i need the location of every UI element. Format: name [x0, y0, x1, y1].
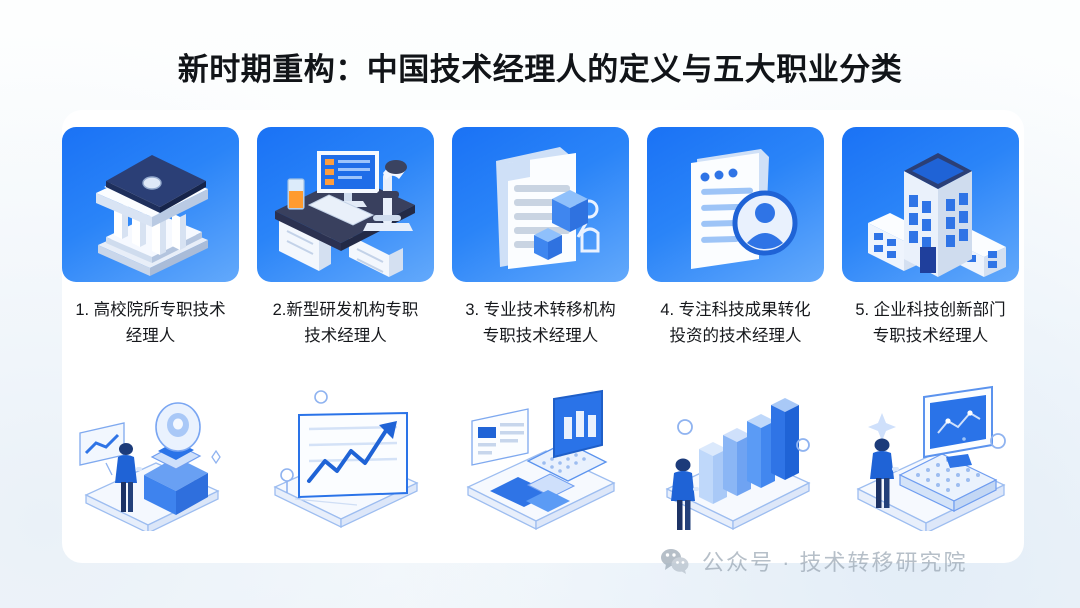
- laptop-dashboard-illustration: [452, 383, 629, 533]
- category-card-label: 1. 高校院所专职技术经理人: [71, 298, 231, 349]
- rising-line-chart-board-illustration: [257, 383, 434, 533]
- category-card-4[interactable]: 4. 专注科技成果转化投资的技术经理人: [647, 127, 824, 547]
- page-title: 新时期重构：中国技术经理人的定义与五大职业分类: [0, 44, 1080, 89]
- category-card-label: 4. 专注科技成果转化投资的技术经理人: [656, 298, 816, 349]
- category-card-3[interactable]: 3. 专业技术转移机构专职技术经理人: [452, 127, 629, 547]
- university-building-icon: [62, 127, 239, 282]
- lab-desk-microscope-icon: [257, 127, 434, 282]
- watermark: 公众号 · 技术转移研究院: [660, 545, 968, 577]
- category-card-2[interactable]: 2.新型研发机构专职技术经理人: [257, 127, 434, 547]
- category-card-1[interactable]: 1. 高校院所专职技术经理人: [62, 127, 239, 547]
- category-card-label: 2.新型研发机构专职技术经理人: [266, 298, 426, 349]
- slide-canvas: 新时期重构：中国技术经理人的定义与五大职业分类: [0, 0, 1080, 608]
- category-card-label: 5. 企业科技创新部门专职技术经理人: [851, 298, 1011, 349]
- office-tower-icon: [842, 127, 1019, 282]
- category-card-5[interactable]: 5. 企业科技创新部门专职技术经理人: [842, 127, 1019, 547]
- person-monitor-analytics-illustration: [842, 383, 1019, 533]
- person-bar-chart-illustration: [647, 383, 824, 533]
- category-card-list: 1. 高校院所专职技术经理人: [62, 127, 1024, 547]
- watermark-text: 公众号 · 技术转移研究院: [702, 545, 968, 577]
- person-viewing-platform-illustration: [62, 383, 239, 533]
- document-user-profile-icon: [647, 127, 824, 282]
- category-card-label: 3. 专业技术转移机构专职技术经理人: [461, 298, 621, 349]
- wechat-icon: [660, 548, 690, 574]
- document-network-cubes-icon: [452, 127, 629, 282]
